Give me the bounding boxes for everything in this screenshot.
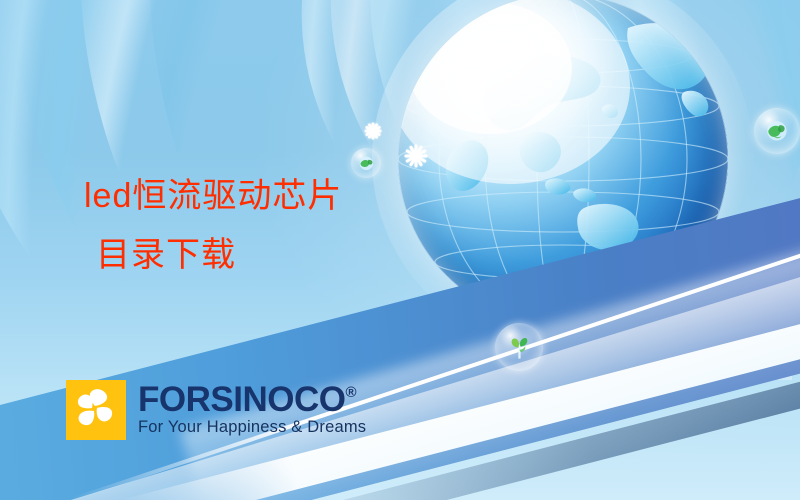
asterisk-flower-icon xyxy=(404,144,427,167)
brand-wordmark: FORSINOCO® xyxy=(138,383,366,417)
bubble-leaf-icon xyxy=(495,323,543,371)
brand-tagline: For Your Happiness & Dreams xyxy=(138,418,366,437)
four-petal-flower-icon xyxy=(66,380,126,440)
page-title: led恒流驱动芯片 目录下载 xyxy=(84,166,342,286)
bubble-inner-globe xyxy=(358,155,375,172)
bubble-inner-leaf xyxy=(506,334,533,361)
promotional-banner: led恒流驱动芯片 目录下载 FORSINOCO® For Your Happi… xyxy=(0,0,800,500)
registered-trademark-icon: ® xyxy=(345,385,356,400)
bubble-globe-icon xyxy=(351,148,381,178)
logo-text-block: FORSINOCO® For Your Happiness & Dreams xyxy=(138,383,366,438)
asterisk-flower-icon xyxy=(364,122,381,139)
headline-line-1: led恒流驱动芯片 xyxy=(84,166,342,226)
bubble-globe-icon xyxy=(754,108,800,154)
bubble-inner-globe xyxy=(764,118,790,144)
headline-line-2: 目录下载 xyxy=(96,226,342,286)
brand-logo[interactable]: FORSINOCO® For Your Happiness & Dreams xyxy=(66,380,366,440)
brand-name: FORSINOCO xyxy=(138,383,345,417)
